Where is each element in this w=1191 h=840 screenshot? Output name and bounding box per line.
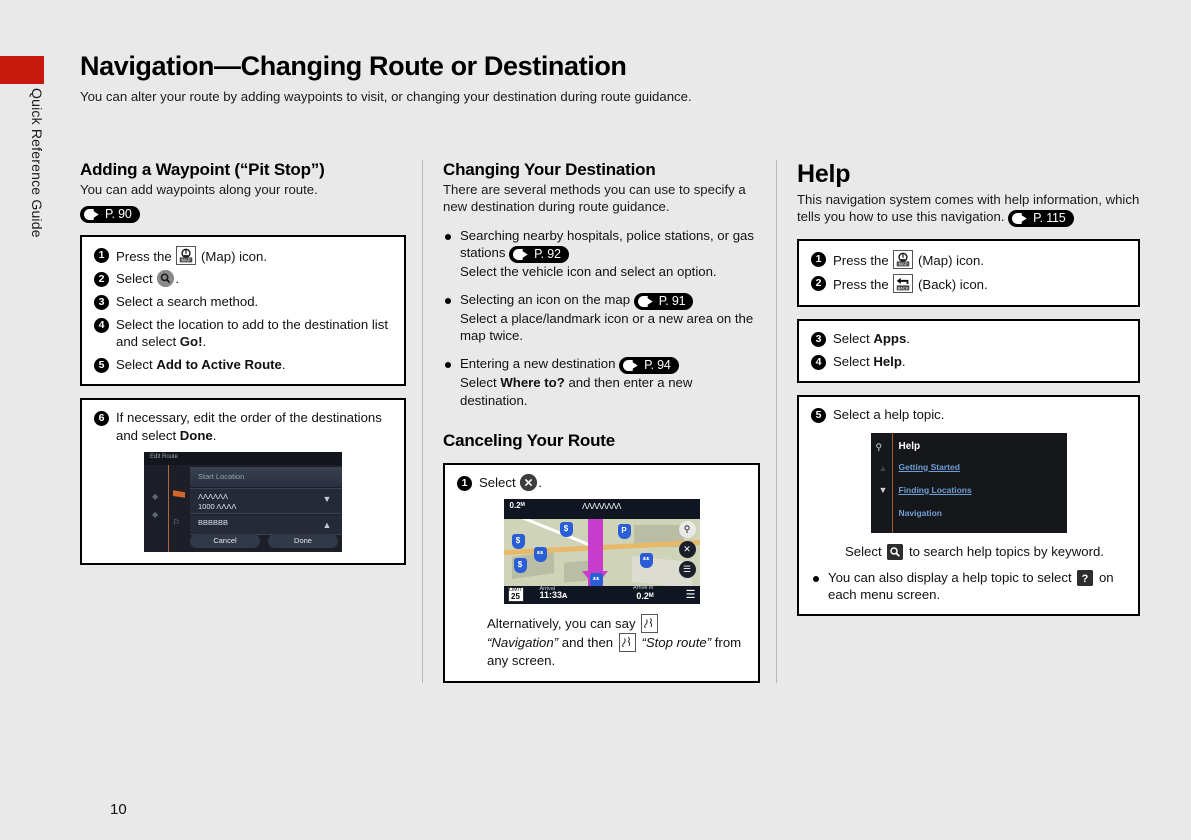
- page-reference-label: P. 94: [644, 359, 671, 373]
- steps-box-help-3: 5 Select a help topic. ⚲ Help ▲ ▼ Gettin…: [797, 395, 1140, 616]
- step-row: 1 Press the MAP (Map) icon.: [811, 250, 1126, 270]
- question-square-icon[interactable]: ?: [1077, 570, 1093, 586]
- help-topic-finding-locations[interactable]: Finding Locations: [899, 485, 972, 495]
- edit-route-header: Edit Route: [144, 452, 342, 465]
- step-number: 1: [811, 252, 826, 267]
- page-reference-p115[interactable]: P. 115: [1008, 210, 1073, 227]
- steps-box-cancel-route: 1 Select . 0.2ᴹ ΛΛΛΛΛΛΛΛ $ $: [443, 463, 760, 683]
- step-text: Select a help topic.: [833, 406, 1126, 424]
- accent-line: [892, 433, 893, 533]
- scroll-down-icon[interactable]: ▼: [879, 485, 888, 495]
- step-number: 3: [94, 295, 109, 310]
- start-location-row[interactable]: Start Location: [190, 467, 342, 487]
- list-item-detail: Select a place/landmark icon or a new ar…: [460, 311, 753, 343]
- list-item-detail: Select the vehicle icon and select an op…: [460, 264, 717, 279]
- edit-route-screenshot: Edit Route ◆◆ Start Location ΛΛΛΛΛΛ1000 …: [144, 452, 342, 552]
- section-desc-adding-waypoint: You can add waypoints along your route.: [80, 182, 406, 199]
- section-desc-help: This navigation system comes with help i…: [797, 192, 1140, 227]
- step-text: Select Apps.: [833, 330, 1126, 348]
- step-text: Select .: [479, 474, 746, 492]
- steps-box-help-1: 1 Press the MAP (Map) icon. 2 Press the …: [797, 239, 1140, 307]
- svg-text:MAP: MAP: [182, 257, 191, 262]
- step-number: 4: [811, 355, 826, 370]
- three-column-layout: Adding a Waypoint (“Pit Stop”) You can a…: [80, 160, 1140, 683]
- scroll-up-icon[interactable]: ▲: [879, 463, 888, 473]
- page-number: 10: [110, 801, 127, 818]
- steps-box-help-2: 3 Select Apps. 4 Select Help.: [797, 319, 1140, 383]
- page-reference-p92[interactable]: P. 92: [509, 246, 569, 263]
- help-topic-getting-started[interactable]: Getting Started: [899, 462, 960, 472]
- search-icon[interactable]: ⚲: [876, 442, 883, 453]
- done-button[interactable]: Done: [268, 534, 338, 548]
- step-number: 5: [811, 408, 826, 423]
- arrow-right-icon: [84, 209, 103, 220]
- step-text: Select a search method.: [116, 293, 392, 311]
- step-row: 2 Press the BACK (Back) icon.: [811, 274, 1126, 294]
- arrow-right-icon: [638, 296, 657, 307]
- step-text: Select Help.: [833, 353, 1126, 371]
- cancel-button[interactable]: Cancel: [190, 534, 260, 548]
- current-street-label: ΛΛΛΛΛΛΛΛ: [504, 502, 700, 511]
- step-text: Select .: [116, 270, 392, 288]
- voice-phrase-2: “Stop route”: [641, 635, 711, 650]
- list-item: Selecting an icon on the map P. 91 Selec…: [443, 291, 760, 344]
- step-row: 2 Select .: [94, 270, 392, 288]
- step-row: 3 Select a search method.: [94, 293, 392, 311]
- menu-icon[interactable]: ☰: [686, 588, 696, 601]
- cancel-circle-icon[interactable]: [520, 474, 537, 491]
- section-title-changing-destination: Changing Your Destination: [443, 160, 760, 180]
- list-item: Searching nearby hospitals, police stati…: [443, 227, 760, 280]
- speed-limit-sign: LIMIT25: [508, 587, 524, 602]
- list-item-detail: Select Where to? and then enter a new de…: [460, 375, 692, 407]
- search-help-note: Select to search help topics by keyword.: [845, 543, 1126, 560]
- destination-methods-list: Searching nearby hospitals, police stati…: [443, 227, 760, 409]
- waypoint-pin-icon: ⚐: [173, 518, 184, 529]
- arrival-time: 11:33ᴀ: [540, 590, 568, 600]
- poi-icon-food[interactable]: ᵜᵜ: [640, 553, 653, 568]
- step-row: 1 Press the MAP (Map) icon.: [94, 246, 392, 266]
- step-number: 2: [94, 272, 109, 287]
- poi-icon-gas[interactable]: $: [512, 534, 525, 549]
- help-topic-navigation[interactable]: Navigation: [899, 508, 942, 518]
- step-row: 5 Select a help topic.: [811, 406, 1126, 424]
- page-subtitle: You can alter your route by adding waypo…: [80, 89, 1140, 106]
- voice-command-icon[interactable]: [619, 633, 636, 652]
- step-row: 1 Select .: [457, 474, 746, 492]
- page-reference-p94[interactable]: P. 94: [619, 357, 679, 374]
- column-changing-destination: Changing Your Destination There are seve…: [422, 160, 776, 683]
- voice-command-icon[interactable]: [641, 614, 658, 633]
- page-title: Navigation—Changing Route or Destination: [80, 52, 1140, 82]
- reorder-arrows: ◆◆: [152, 492, 158, 519]
- step-text: If necessary, edit the order of the dest…: [116, 409, 392, 444]
- step-row: 6 If necessary, edit the order of the de…: [94, 409, 392, 444]
- step-text: Press the MAP (Map) icon.: [116, 246, 392, 266]
- svg-text:MAP: MAP: [899, 261, 908, 266]
- arrow-right-icon: [623, 360, 642, 371]
- step-number: 4: [94, 318, 109, 333]
- accent-line: [168, 465, 169, 552]
- column-help: Help This navigation system comes with h…: [776, 160, 1140, 683]
- help-screen-title: Help: [899, 441, 921, 452]
- display-help-topic-note: You can also display a help topic to sel…: [811, 569, 1126, 603]
- page-reference-p91[interactable]: P. 91: [634, 293, 694, 310]
- vertical-guide-label: Quick Reference Guide: [29, 88, 45, 288]
- step-row: 3 Select Apps.: [811, 330, 1126, 348]
- move-down-icon[interactable]: ▼: [320, 494, 334, 504]
- map-key-icon[interactable]: MAP: [176, 246, 196, 265]
- back-key-icon[interactable]: BACK: [893, 274, 913, 293]
- step-text: Select the location to add to the destin…: [116, 316, 392, 351]
- section-title-adding-waypoint: Adding a Waypoint (“Pit Stop”): [80, 160, 406, 180]
- column-adding-waypoint: Adding a Waypoint (“Pit Stop”) You can a…: [80, 160, 422, 683]
- poi-icon-gas[interactable]: $: [560, 522, 573, 537]
- arrow-right-icon: [513, 249, 532, 260]
- help-topics-screenshot: ⚲ Help ▲ ▼ Getting Started Finding Locat…: [871, 433, 1067, 533]
- page-reference-label: P. 92: [534, 248, 561, 262]
- section-title-canceling-route: Canceling Your Route: [443, 431, 760, 451]
- section-desc-changing-destination: There are several methods you can use to…: [443, 182, 760, 216]
- step-number: 3: [811, 332, 826, 347]
- poi-icon-parking[interactable]: P: [618, 524, 631, 539]
- section-title-help: Help: [797, 160, 1140, 189]
- search-square-icon[interactable]: [887, 544, 903, 560]
- destination-flag-icon: [173, 490, 185, 501]
- step-number: 6: [94, 411, 109, 426]
- section-color-tab: [0, 56, 44, 84]
- voice-phrase-1: “Navigation”: [487, 635, 558, 650]
- poi-icon-food[interactable]: ᵜᵜ: [534, 547, 547, 562]
- move-up-icon[interactable]: ▲: [320, 520, 334, 530]
- page-reference-label: P. 91: [659, 295, 686, 309]
- steps-box-edit-order: 6 If necessary, edit the order of the de…: [80, 398, 406, 565]
- step-row: 5 Select Add to Active Route.: [94, 356, 392, 374]
- arrive-in-value: 0.2ᴹ: [636, 591, 653, 601]
- page-reference-label: P. 115: [1033, 212, 1065, 226]
- step-number: 1: [94, 248, 109, 263]
- step-text: Press the MAP (Map) icon.: [833, 250, 1126, 270]
- step-text: Press the BACK (Back) icon.: [833, 274, 1126, 294]
- step-row: 4 Select the location to add to the dest…: [94, 316, 392, 351]
- step-number: 5: [94, 358, 109, 373]
- map-key-icon[interactable]: MAP: [893, 250, 913, 269]
- voice-command-note: Alternatively, you can say “Navigation” …: [487, 614, 746, 670]
- map-bottom-bar: [504, 586, 700, 604]
- search-circle-icon[interactable]: [157, 270, 174, 287]
- step-text: Select Add to Active Route.: [116, 356, 392, 374]
- step-row: 4 Select Help.: [811, 353, 1126, 371]
- page-content: Navigation—Changing Route or Destination…: [80, 0, 1140, 840]
- poi-icon-gas[interactable]: $: [514, 558, 527, 573]
- svg-text:?: ?: [1082, 573, 1089, 585]
- layers-button[interactable]: ☰: [679, 561, 696, 578]
- list-item: Entering a new destination P. 94 Select …: [443, 355, 760, 408]
- steps-box-waypoint: 1 Press the MAP (Map) icon. 2 Select . 3…: [80, 235, 406, 386]
- arrow-right-icon: [1012, 213, 1031, 224]
- map-screenshot: 0.2ᴹ ΛΛΛΛΛΛΛΛ $ $ ᵜᵜ $ P ᵜᵜ ᵜᵜ ⚲ ✕ ☰ LIM…: [504, 499, 700, 604]
- cancel-route-button[interactable]: ✕: [679, 541, 696, 558]
- edit-route-buttons: Cancel Done: [190, 534, 338, 548]
- page-reference-p90[interactable]: P. 90: [80, 206, 140, 223]
- step-number: 1: [457, 476, 472, 491]
- svg-text:BACK: BACK: [898, 286, 909, 291]
- search-button[interactable]: ⚲: [679, 521, 696, 538]
- step-number: 2: [811, 276, 826, 291]
- page-reference-label: P. 90: [105, 208, 132, 222]
